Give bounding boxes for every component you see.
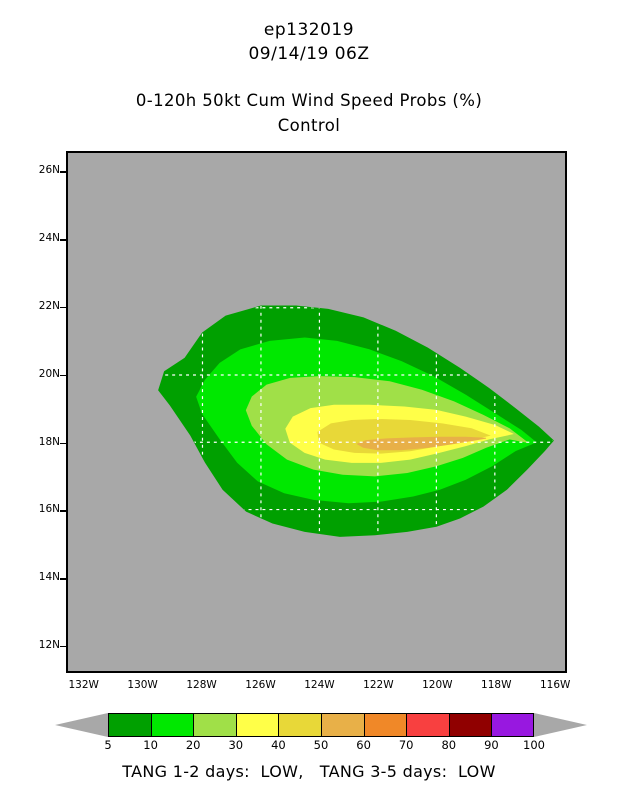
colorbar-tick-label: 5	[88, 737, 128, 753]
colorbar-under-arrow-icon	[55, 713, 108, 737]
colorbar-cell-10-20	[151, 713, 194, 737]
colorbar-tick-label: 10	[131, 737, 171, 753]
colorbar-tick-label: 60	[344, 737, 384, 753]
colorbar-cell-40-50	[278, 713, 321, 737]
colorbar-cell-90-100	[491, 713, 534, 737]
x-axis-tick-label: 132W	[59, 679, 109, 691]
x-axis-tick-label: 126W	[236, 679, 286, 691]
y-axis-tick-label: 24N	[16, 233, 60, 244]
x-axis-tick-label: 118W	[471, 679, 521, 691]
x-axis-tick-label: 120W	[412, 679, 462, 691]
tang-summary-label: TANG 1-2 days: LOW, TANG 3-5 days: LOW	[0, 762, 618, 781]
product-title-label: 0-120h 50kt Cum Wind Speed Probs (%)	[0, 88, 618, 114]
map-plot-area	[66, 151, 567, 673]
y-axis-tick-label: 26N	[16, 165, 60, 176]
colorbar-cell-5-10	[108, 713, 151, 737]
contour-fill-svg	[68, 153, 565, 671]
colorbar-tick-label: 40	[258, 737, 298, 753]
y-axis-tick-label: 22N	[16, 301, 60, 312]
colorbar-tick-label: 20	[173, 737, 213, 753]
y-axis-tick-label: 16N	[16, 504, 60, 515]
ensemble-member-label: Control	[0, 114, 618, 138]
colorbar-tick-label: 80	[429, 737, 469, 753]
contour-canvas	[68, 153, 565, 671]
storm-id-label: ep132019	[0, 18, 618, 42]
y-axis-tick-label: 20N	[16, 369, 60, 380]
colorbar-bands	[108, 713, 534, 737]
chart-header: ep132019 09/14/19 06Z	[0, 18, 618, 66]
x-axis-tick-label: 130W	[118, 679, 168, 691]
x-axis-tick-label: 128W	[177, 679, 227, 691]
colorbar-cell-20-30	[193, 713, 236, 737]
colorbar-tick-label: 90	[471, 737, 511, 753]
colorbar-cell-60-70	[364, 713, 407, 737]
colorbar-tick-label: 100	[514, 737, 554, 753]
colorbar-tick-label: 50	[301, 737, 341, 753]
x-axis-tick-label: 124W	[294, 679, 344, 691]
colorbar-cell-30-40	[236, 713, 279, 737]
probability-colorbar: 5102030405060708090100	[0, 713, 618, 753]
y-axis-tick-label: 12N	[16, 640, 60, 651]
wind-probability-chart-page: ep132019 09/14/19 06Z 0-120h 50kt Cum Wi…	[0, 0, 618, 800]
colorbar-tick-label: 70	[386, 737, 426, 753]
colorbar-tick-label: 30	[216, 737, 256, 753]
colorbar-over-arrow-icon	[534, 713, 587, 737]
y-axis-tick-label: 18N	[16, 437, 60, 448]
x-axis-tick-label: 122W	[353, 679, 403, 691]
y-axis-tick-label: 14N	[16, 572, 60, 583]
chart-subtitle-block: 0-120h 50kt Cum Wind Speed Probs (%) Con…	[0, 88, 618, 138]
colorbar-cell-70-80	[406, 713, 449, 737]
valid-datetime-label: 09/14/19 06Z	[0, 42, 618, 66]
colorbar-cell-50-60	[321, 713, 364, 737]
x-axis-tick-label: 116W	[530, 679, 580, 691]
colorbar-cell-80-90	[449, 713, 492, 737]
